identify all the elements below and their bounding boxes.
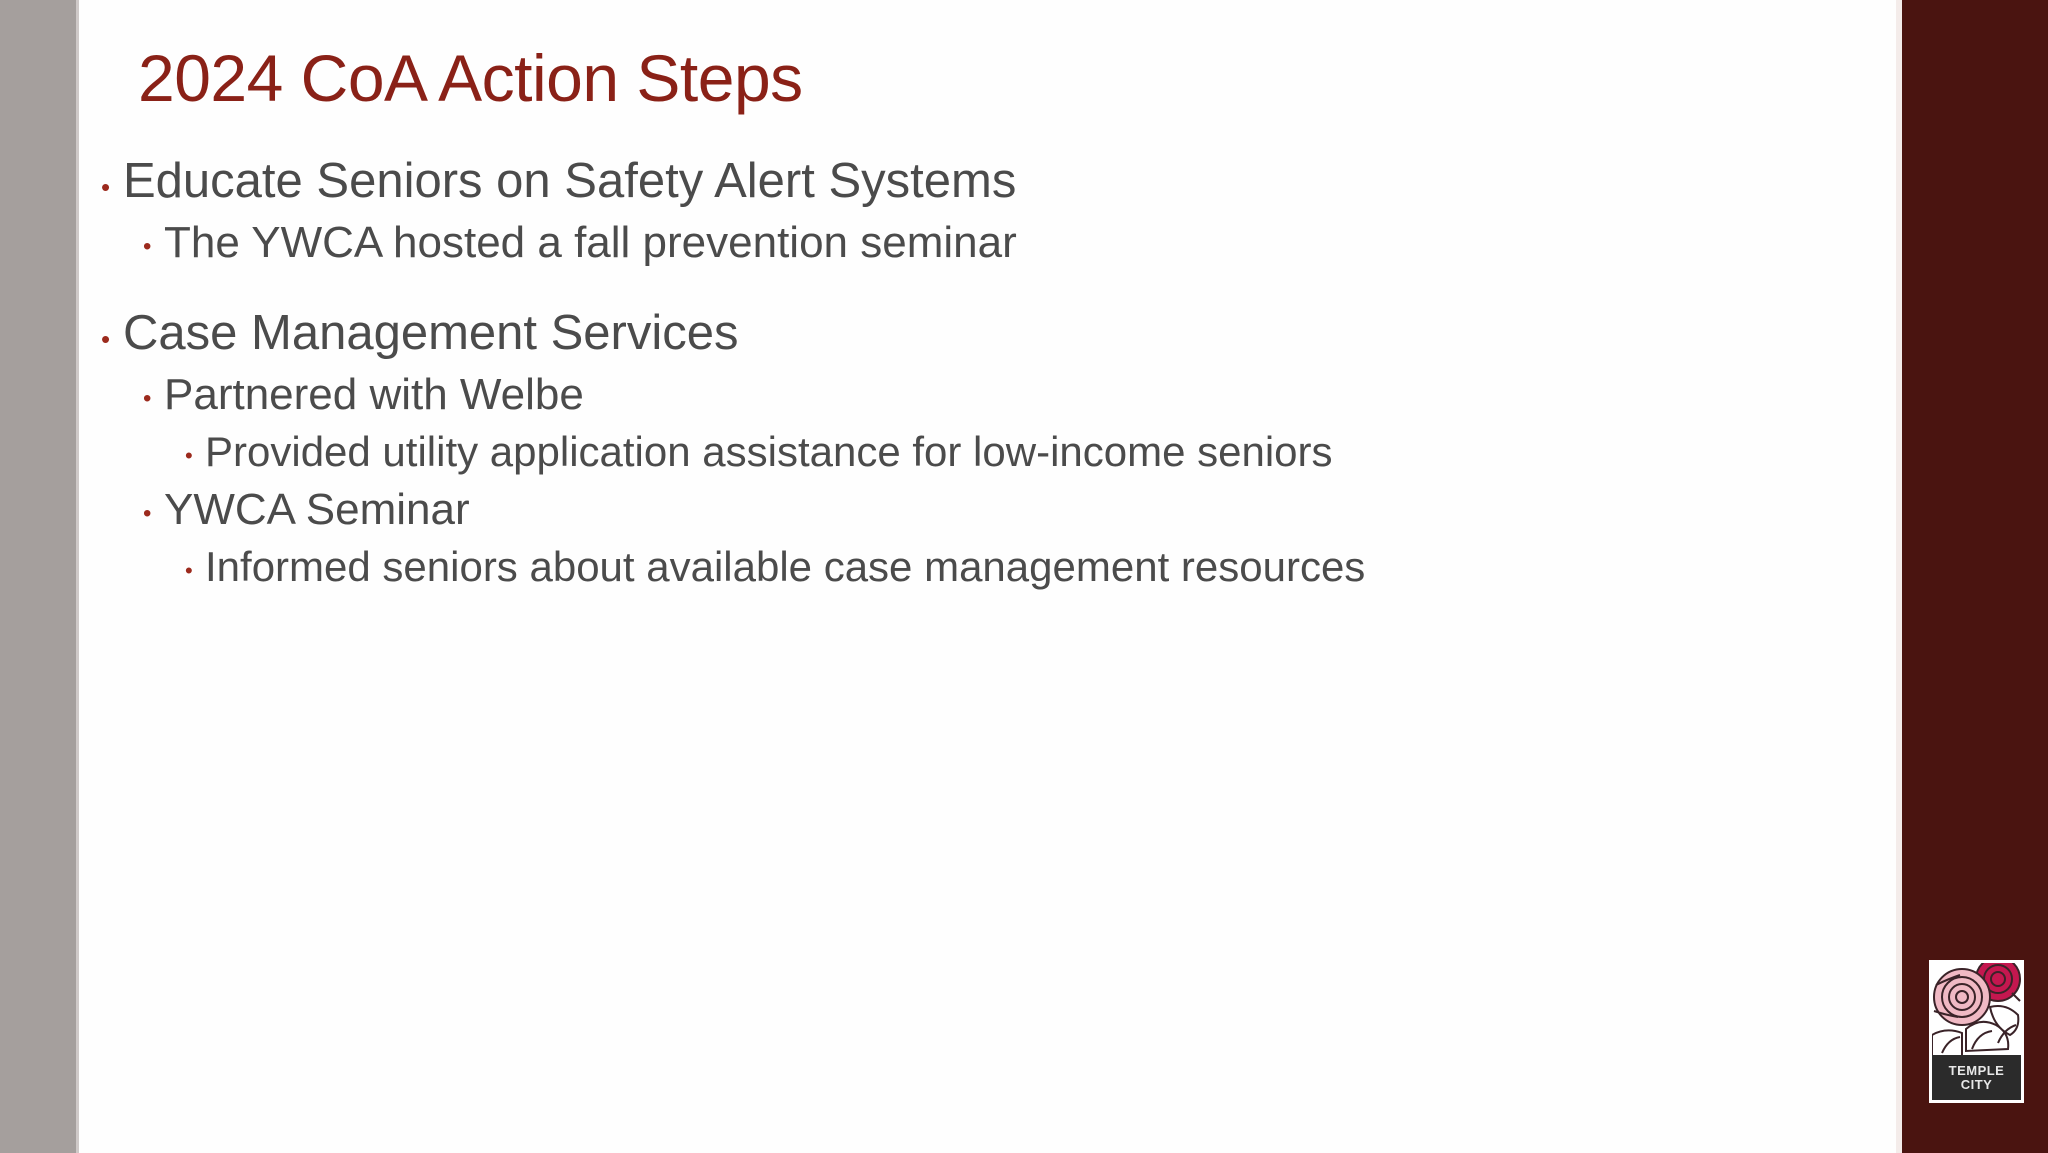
rose-emblem-icon (1932, 963, 2021, 1061)
logo-line-2: CITY (1961, 1078, 1993, 1092)
list-item-label: Provided utility application assistance … (205, 424, 1333, 480)
list-item-label: Educate Seniors on Safety Alert Systems (123, 150, 1016, 213)
list-item: • The YWCA hosted a fall prevention semi… (143, 213, 1861, 272)
bullet-dot-icon: • (143, 213, 164, 259)
slide-body-list: • Educate Seniors on Safety Alert System… (101, 150, 1861, 595)
bullet-dot-icon: • (101, 150, 123, 200)
logo-line-1: TEMPLE (1949, 1064, 2005, 1078)
list-item-label: Partnered with Welbe (164, 365, 584, 424)
bullet-dot-icon: • (185, 424, 205, 467)
logo-wordmark: TEMPLE CITY (1932, 1055, 2021, 1100)
temple-city-logo: TEMPLE CITY (1929, 960, 2024, 1103)
list-item-label: YWCA Seminar (164, 480, 470, 539)
list-item-label: Informed seniors about available case ma… (205, 539, 1365, 595)
list-item: • Informed seniors about available case … (185, 539, 1861, 595)
list-item: • Partnered with Welbe (143, 365, 1861, 424)
slide-canvas: 2024 CoA Action Steps • Educate Seniors … (79, 0, 1896, 1153)
presentation-slide: 2024 CoA Action Steps • Educate Seniors … (0, 0, 2048, 1153)
list-item: • Educate Seniors on Safety Alert System… (101, 150, 1861, 213)
bullet-dot-icon: • (101, 302, 123, 352)
list-item: • Case Management Services (101, 302, 1861, 365)
bullet-dot-icon: • (185, 539, 205, 582)
page-title: 2024 CoA Action Steps (138, 38, 803, 118)
list-item: • Provided utility application assistanc… (185, 424, 1861, 480)
bullet-dot-icon: • (143, 480, 164, 526)
left-decorative-band (0, 0, 76, 1153)
bullet-dot-icon: • (143, 365, 164, 411)
list-item-label: Case Management Services (123, 302, 739, 365)
list-item: • YWCA Seminar (143, 480, 1861, 539)
list-item-label: The YWCA hosted a fall prevention semina… (164, 213, 1017, 272)
